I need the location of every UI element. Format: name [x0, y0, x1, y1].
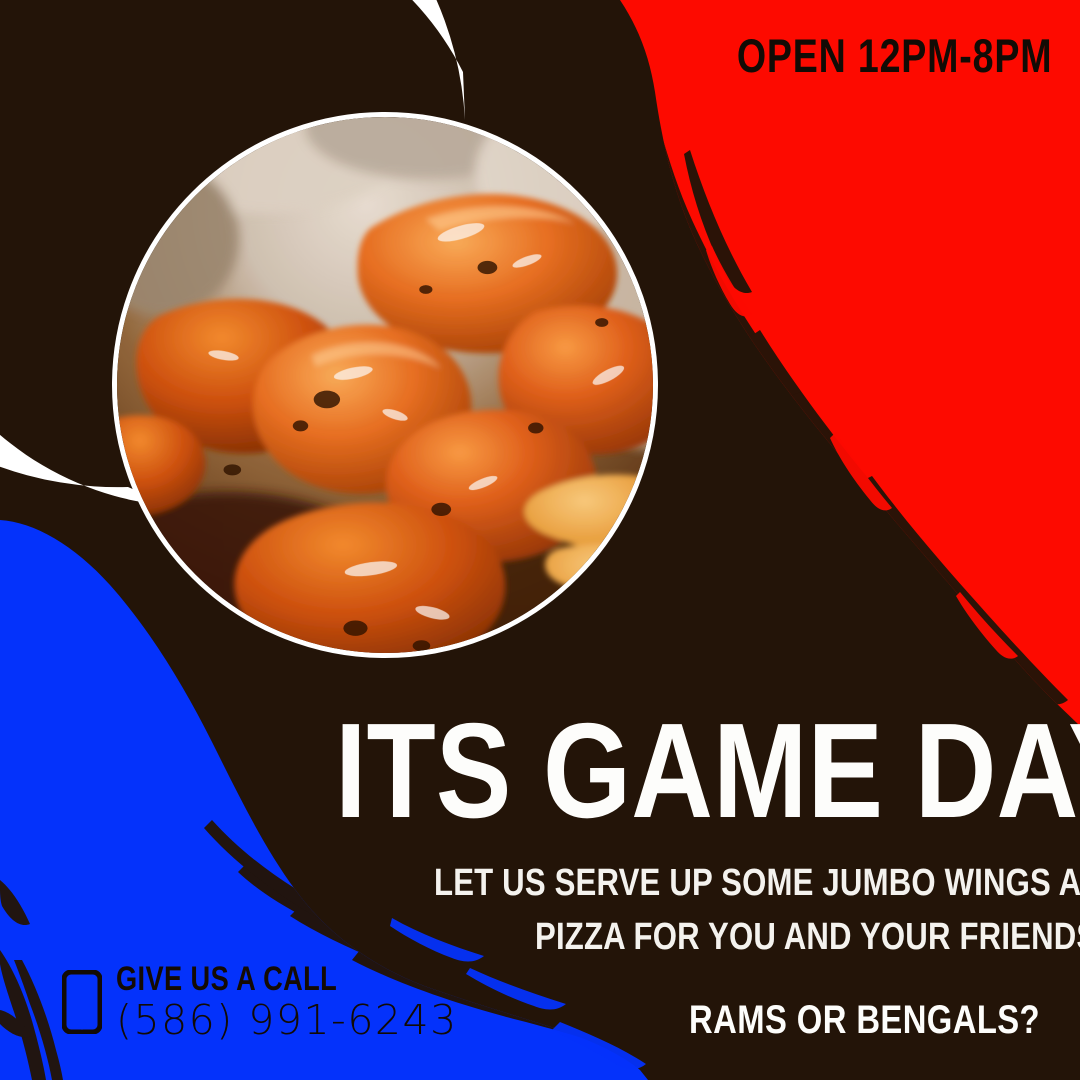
wings-photo-illustration: [112, 112, 658, 658]
call-to-action-block[interactable]: GIVE US A CALL (586) 991-6243: [62, 962, 458, 1042]
call-label: GIVE US A CALL: [116, 962, 389, 996]
poster-canvas: OPEN 12PM-8PM ITS GAME DAY LET US SERVE …: [0, 0, 1080, 1080]
open-hours-label: OPEN 12PM-8PM: [737, 32, 1052, 79]
subheadline-line-1: LET US SERVE UP SOME JUMBO WINGS AND DEL…: [434, 864, 1080, 902]
chicken-wings-photo: [112, 112, 658, 658]
teams-question: RAMS OR BENGALS?: [689, 1000, 1040, 1040]
subheadline-line-2: PIZZA FOR YOU AND YOUR FRIENDS!: [535, 918, 1080, 956]
smartphone-icon: [62, 970, 102, 1034]
phone-number[interactable]: (586) 991-6243: [116, 999, 458, 1042]
page-title: ITS GAME DAY: [335, 703, 1080, 838]
